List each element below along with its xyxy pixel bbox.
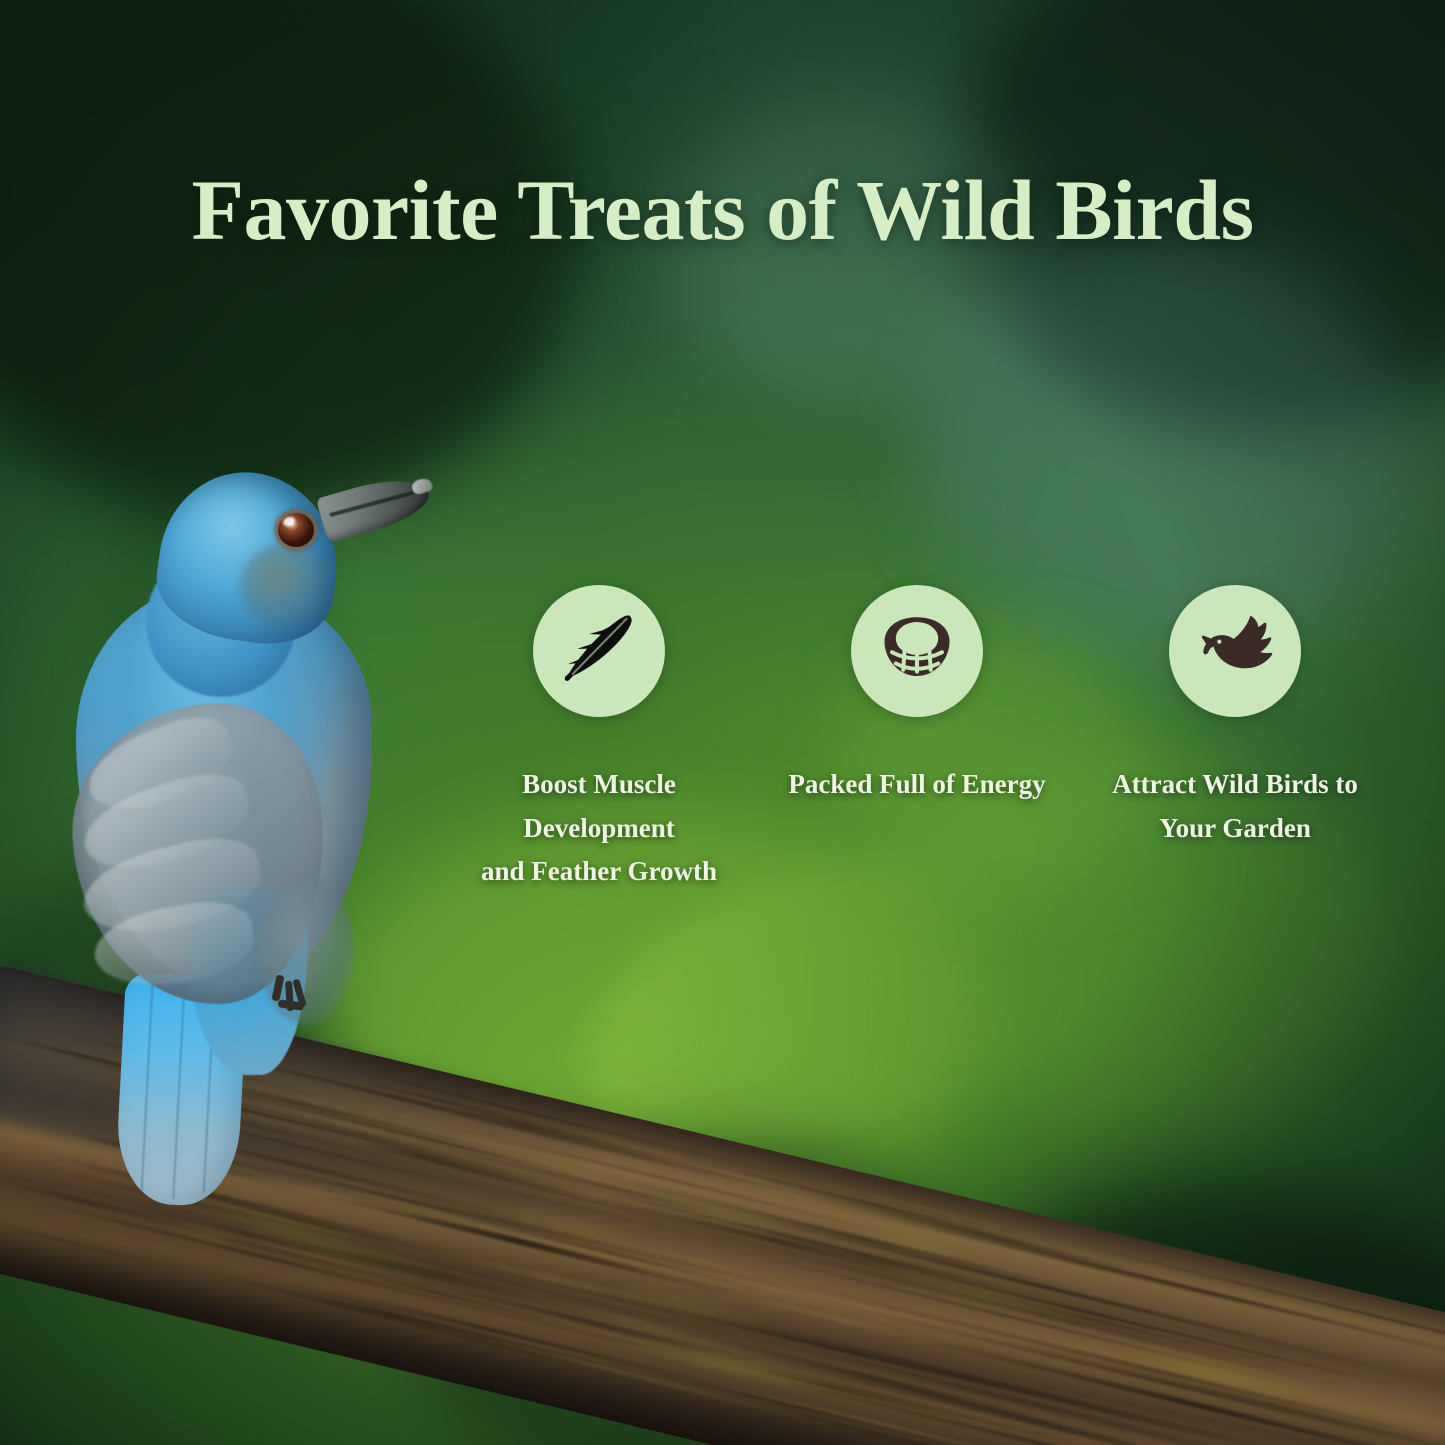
seed-bowl-feeder-icon [877,613,957,689]
bird-cheek [240,543,332,629]
bird-beak-tip [410,476,433,495]
product-feature-poster: Favorite Treats of Wild Birds [0,0,1445,1445]
bird-photo [20,455,440,1215]
feature-item-feather: Boost Muscle Development and Feather Gro… [440,585,758,894]
bird-foot [270,975,314,1021]
feature-label-line: Boost Muscle [449,763,749,807]
feature-item-energy: Packed Full of Energy [758,585,1076,894]
feature-label-line: Development [449,807,749,851]
flying-bird-icon [1192,613,1278,689]
feather-icon [557,609,641,693]
feature-item-attract: Attract Wild Birds to Your Garden [1076,585,1394,894]
feature-label: Boost Muscle Development and Feather Gro… [449,763,749,894]
feature-label-line: and Feather Growth [449,850,749,894]
feature-label: Attract Wild Birds to Your Garden [1085,763,1385,850]
bird-eye [278,513,314,547]
feature-label-line: Attract Wild Birds to [1085,763,1385,807]
feature-label: Packed Full of Energy [759,763,1075,807]
icon-badge [533,585,665,717]
feature-row: Boost Muscle Development and Feather Gro… [440,585,1395,894]
feature-label-line: Your Garden [1085,807,1385,851]
icon-badge [1169,585,1301,717]
page-title: Favorite Treats of Wild Birds [0,165,1445,255]
feature-label-line: Packed Full of Energy [759,763,1075,807]
icon-badge [851,585,983,717]
